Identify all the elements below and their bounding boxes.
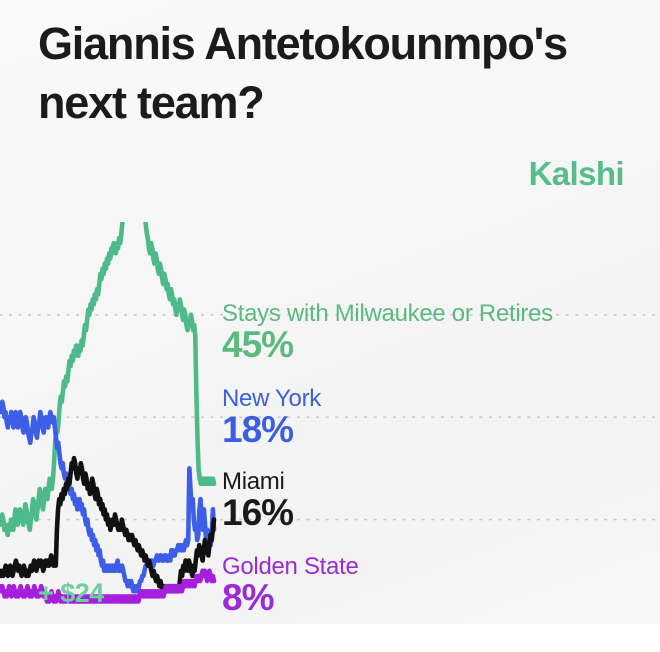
- legend-label-golden-state: Golden State: [222, 553, 359, 580]
- legend-value-new-york: 18%: [222, 409, 321, 450]
- legend-value-miami: 16%: [222, 492, 293, 533]
- portfolio-gain-label: + $24: [38, 578, 104, 609]
- legend-item-golden-state[interactable]: Golden State 8%: [222, 553, 359, 618]
- chart-legend-overlay: Stays with Milwaukee or Retires 45% New …: [0, 0, 660, 652]
- legend-value-milwaukee: 45%: [222, 324, 553, 365]
- legend-label-milwaukee: Stays with Milwaukee or Retires: [222, 300, 553, 327]
- legend-item-new-york[interactable]: New York 18%: [222, 385, 321, 450]
- legend-label-new-york: New York: [222, 385, 321, 412]
- legend-value-golden-state: 8%: [222, 577, 359, 618]
- kalshi-market-card: Giannis Antetokounmpo's next team? Kalsh…: [0, 0, 660, 652]
- legend-item-milwaukee[interactable]: Stays with Milwaukee or Retires 45%: [222, 300, 553, 365]
- legend-label-miami: Miami: [222, 468, 293, 495]
- legend-item-miami[interactable]: Miami 16%: [222, 468, 293, 533]
